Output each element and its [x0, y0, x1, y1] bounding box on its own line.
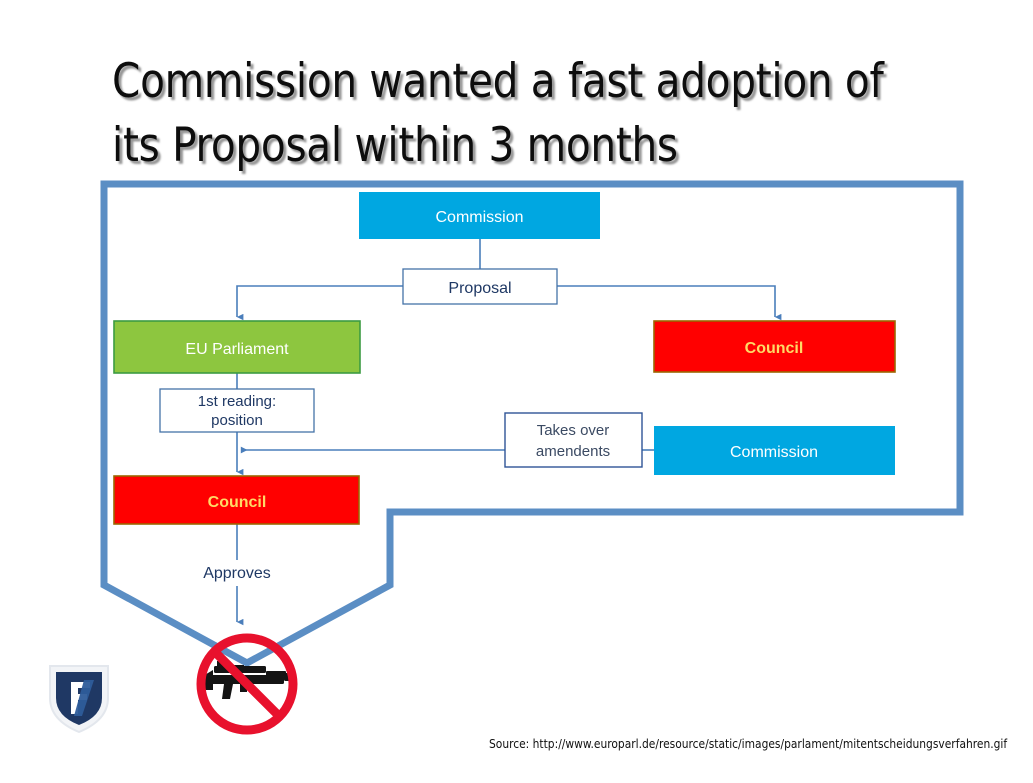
edge-label-approves: Approves: [203, 565, 271, 582]
node-commission-mid[interactable]: Commission: [654, 426, 895, 475]
node-council-top-box: [654, 321, 895, 372]
node-eu-parliament[interactable]: EU Parliament: [114, 321, 360, 373]
codecision-procedure-diagram: Commission Proposal EU Parliament Counci…: [0, 0, 1033, 783]
node-first-reading-position[interactable]: 1st reading: position: [160, 389, 314, 432]
node-first-reading-position-box: [160, 389, 314, 432]
node-commission-top-box: [359, 192, 600, 239]
shield-monogram-logo: [40, 652, 118, 738]
node-proposal[interactable]: Proposal: [403, 269, 557, 304]
connector-proposal-to-council: [557, 286, 775, 317]
node-takes-over-amendents-box: [505, 413, 642, 467]
connector-proposal-to-parliament: [237, 286, 403, 317]
source-citation: Source: http://www.europarl.de/resource/…: [489, 736, 1007, 751]
node-eu-parliament-box: [114, 321, 360, 373]
node-council-top[interactable]: Council: [654, 321, 895, 372]
node-council-bottom-box: [114, 476, 359, 524]
node-takes-over-amendents[interactable]: Takes over amendents: [505, 413, 642, 467]
node-commission-top[interactable]: Commission: [359, 192, 600, 239]
node-proposal-box: [403, 269, 557, 304]
node-council-bottom[interactable]: Council: [114, 476, 359, 524]
no-firearms-outcome: [201, 638, 294, 730]
node-commission-mid-box: [654, 426, 895, 475]
